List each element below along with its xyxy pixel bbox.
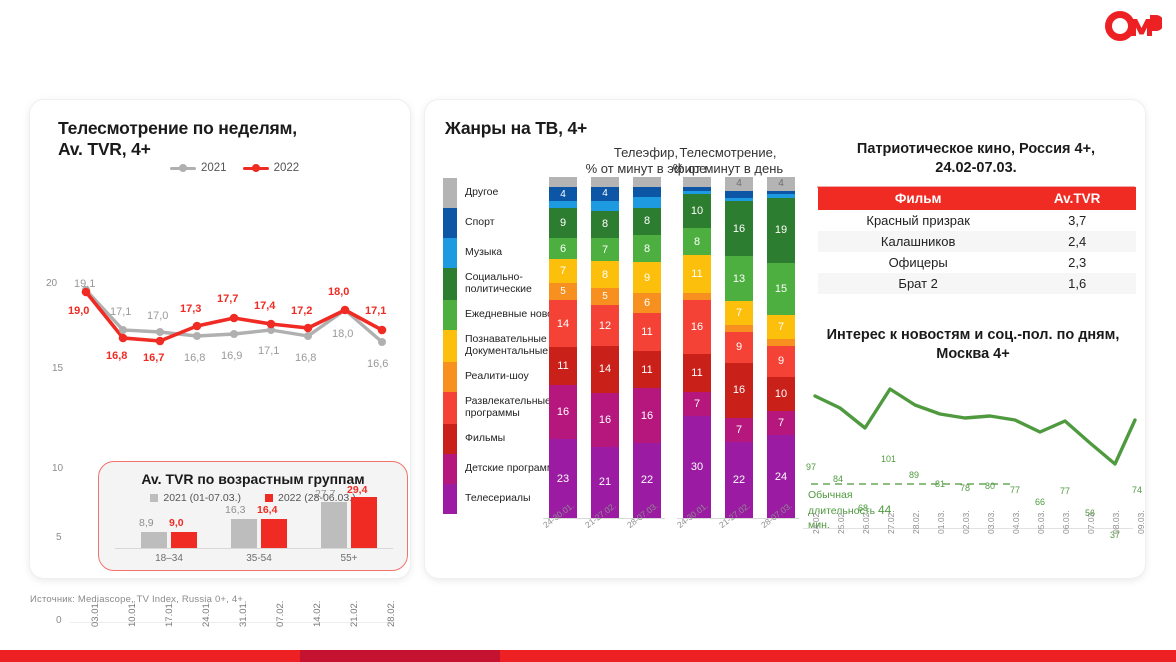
legend-label-2021: 2021 [201,162,227,174]
news-series-line [815,389,1135,464]
point-label-2022-4: 17,7 [217,293,238,305]
genre-label-7: Развлекательные программы [465,392,551,419]
column-head-viewing-line1: Телесмотрение, [653,145,803,161]
genre-label-8: Фильмы [465,424,505,444]
stack-segment: 16 [591,393,619,447]
news-x-tick: 08.03. [1111,510,1121,534]
news-value-8: 77 [1010,485,1020,495]
stack-segment: 13 [725,256,753,301]
stacked-bar-broadcast-0: 4967514111623 [549,177,577,518]
film-table-row: Брат 21,6 [818,273,1136,294]
news-value-13: 74 [1132,485,1142,495]
stack-segment: 16 [725,363,753,418]
stack-segment: 7 [683,392,711,416]
genre-swatch-entertainment-icon [443,392,457,424]
film-cell-name: Брат 2 [818,273,1018,294]
film-table-header-row: Фильм Av.TVR [818,187,1136,210]
point-label-2022-2: 16,7 [143,352,164,364]
stack-segment [725,191,753,198]
stack-segment: 8 [591,211,619,238]
stack-segment: 7 [767,315,795,339]
age-value-2021-35-54: 16,3 [225,504,245,516]
genre-swatch-kids-icon [443,454,457,484]
genre-label-1: Спорт [465,208,495,228]
genre-label-3: Социально- политические [465,268,532,295]
film-panel-title: Патриотическое кино, Россия 4+, 24.02-07… [817,140,1135,178]
news-title-line1: Интерес к новостям и соц.-пол. по дням, [803,326,1143,345]
stacked-bar-broadcast-1: 4878512141621 [591,177,619,518]
point-label-2022-6: 17,2 [291,305,312,317]
left-title-line1: Телесмотрение по неделям, [58,118,388,139]
left-title-line2: Av. TVR, 4+ [58,139,388,160]
legend-label-2022: 2022 [274,162,300,174]
stack-segment: 9 [633,262,661,293]
slide: Телесмотрение по неделям, Av. TVR, 4+ 20… [0,0,1176,662]
news-panel-title: Интерес к новостям и соц.-пол. по дням, … [803,326,1143,364]
age-legend-item-2021: 2021 (01-07.03.) [150,492,241,504]
stack-segment: 4 [725,177,753,191]
stack-segment [591,201,619,211]
stack-segment: 8 [633,208,661,235]
stack-segment: 11 [683,354,711,392]
news-value-6: 78 [960,483,970,493]
stack-segment: 4 [591,187,619,201]
footer-accent-bar [0,650,1176,662]
news-x-tick: 26.02. [861,510,871,534]
film-col-header-name: Фильм [818,187,1018,210]
film-cell-name: Красный призрак [818,210,1018,231]
stack-segment: 5 [549,283,577,300]
age-bar-2021-35-54 [231,519,257,548]
legend-marker-2022 [243,167,269,170]
age-value-2021-18-34: 8,9 [139,517,154,529]
x-tick-6: 14.02. [312,601,323,627]
stack-segment [591,177,619,187]
age-groups-inset: Av. TVR по возрастным группам 2021 (01-0… [98,461,408,571]
point-label-2022-1: 16,8 [106,350,127,362]
news-value-10: 77 [1060,486,1070,496]
point-label-2022-7: 18,0 [328,286,349,298]
genre-swatch-movies-icon [443,424,457,454]
age-bar-2021-55plus [321,502,347,548]
news-x-tick: 05.03. [1036,510,1046,534]
weekly-viewing-card: Телесмотрение по неделям, Av. TVR, 4+ 20… [30,100,410,578]
film-table-row: Калашников2,4 [818,231,1136,252]
point-label-2021-0: 19,1 [74,278,95,290]
news-value-4: 89 [909,470,919,480]
point-label-2021-1: 17,1 [110,306,131,318]
news-x-tick: 07.03. [1086,510,1096,534]
left-chart-legend: 2021 2022 [170,162,299,174]
stacked-bar-broadcast-2: 889611111622 [633,177,661,518]
stack-segment [633,187,661,197]
genre-label-6: Реалити-шоу [465,362,529,382]
stack-segment: 7 [767,411,795,435]
stack-segment: 14 [549,300,577,348]
news-x-tick: 28.02. [911,510,921,534]
genre-label-0: Другое [465,178,498,198]
news-x-tick: 25.02. [836,510,846,534]
stack-segment [549,177,577,187]
legend-marker-2021 [170,167,196,170]
genre-swatch-reality-icon [443,362,457,392]
point-label-2021-6: 16,8 [295,352,316,364]
film-cell-tvr: 2,3 [1018,252,1136,273]
stack-segment: 8 [633,235,661,262]
age-category-35-54: 35-54 [227,553,291,564]
stack-segment [683,177,711,187]
genre-swatch-other-icon [443,178,457,208]
column-head-viewing: Телесмотрение, % от минут в день [653,145,803,178]
stack-segment: 15 [767,263,795,315]
source-note: Источник: Mediascope, TV Index, Russia 0… [30,594,243,605]
y-tick-15: 15 [52,363,63,374]
stack-segment: 16 [683,300,711,355]
genre-swatch-series-icon [443,484,457,514]
stack-segment: 6 [549,238,577,258]
age-value-2021-55plus: 27,7 [315,488,335,500]
news-value-1: 84 [833,474,843,484]
stack-segment: 11 [633,351,661,389]
stack-segment: 11 [549,347,577,385]
news-x-tick: 02.03. [961,510,971,534]
news-x-tick: 01.03. [936,510,946,534]
stack-segment: 9 [767,346,795,377]
film-table-row: Офицеры2,3 [818,252,1136,273]
point-label-2022-8: 17,1 [365,305,386,317]
point-label-2021-7: 18,0 [332,328,353,340]
y-tick-5: 5 [56,532,62,543]
age-bar-2021-18-34 [141,532,167,548]
genre-swatch-daily-news-icon [443,300,457,330]
film-title-line2: 24.02-07.03. [817,159,1135,178]
age-bar-2022-35-54 [261,519,287,548]
stack-segment: 16 [633,388,661,443]
stack-segment: 10 [683,194,711,228]
news-note-line1: Обычная [808,488,938,502]
age-value-2022-35-54: 16,4 [257,504,277,516]
age-bar-2022-55plus [351,497,377,548]
age-category-18-34: 18–34 [137,553,201,564]
age-legend-label-2021: 2021 (01-07.03.) [163,492,241,504]
genre-label-2: Музыка [465,238,502,258]
x-tick-7: 21.02. [349,601,360,627]
stack-segment: 19 [767,198,795,263]
stack-segment: 8 [683,228,711,255]
stack-segment: 7 [725,301,753,325]
stack-segment: 30 [683,416,711,518]
point-label-2021-3: 16,8 [184,352,205,364]
omd-logo-icon [1104,10,1162,44]
film-title-line1: Патриотическое кино, Россия 4+, [817,140,1135,159]
age-legend-swatch-2022 [265,494,273,502]
film-cell-tvr: 2,4 [1018,231,1136,252]
stack-segment: 16 [725,201,753,256]
point-label-2021-2: 17,0 [147,310,168,322]
point-label-2022-0: 19,0 [68,305,89,317]
point-label-2022-5: 17,4 [254,300,275,312]
news-value-7: 80 [985,481,995,491]
stack-segment: 10 [767,377,795,411]
legend-item-2022: 2022 [243,162,300,174]
y-tick-0: 0 [56,615,62,626]
film-table-row: Красный призрак3,7 [818,210,1136,231]
mid-panel-title: Жанры на ТВ, 4+ [445,118,587,139]
stack-segment: 7 [591,238,619,262]
stack-segment: 7 [725,418,753,442]
stack-segment [767,339,795,346]
x-tick-5: 07.02. [275,601,286,627]
film-table-wrapper: Фильм Av.TVR Красный призрак3,7Калашнико… [817,186,1135,188]
age-value-2022-55plus: 29,4 [347,484,367,496]
film-table: Фильм Av.TVR Красный призрак3,7Калашнико… [818,187,1136,294]
age-axis-line [115,548,393,549]
age-legend-swatch-2021 [150,494,158,502]
film-cell-tvr: 3,7 [1018,210,1136,231]
x-axis-line [70,622,395,623]
legend-item-2021: 2021 [170,162,227,174]
news-x-tick: 06.03. [1061,510,1071,534]
stack-segment: 4 [767,177,795,191]
stack-segment: 14 [591,346,619,393]
y-tick-20: 20 [46,278,57,289]
x-tick-8: 28.02. [386,601,397,627]
film-col-header-tvr: Av.TVR [1018,187,1136,210]
stacked-bar-viewing-1: 416137916722 [725,177,753,518]
genre-swatch-sociopolitical-icon [443,268,457,300]
age-category-55plus: 55+ [317,553,381,564]
stack-segment: 9 [725,332,753,363]
stack-segment: 11 [683,255,711,293]
stack-segment: 6 [633,293,661,313]
film-cell-name: Калашников [818,231,1018,252]
stacked-bar-viewing-0: 108111611730 [683,177,711,518]
stacked-bar-viewing-2: 419157910724 [767,177,795,518]
news-x-tick: 24.02. [811,510,821,534]
genre-swatch-music-icon [443,238,457,268]
point-label-2021-8: 16,6 [367,358,388,370]
point-label-2022-3: 17,3 [180,303,201,315]
genre-label-5: Познавательные / Документальные [465,330,553,357]
news-x-tick: 03.03. [986,510,996,534]
left-panel-title: Телесмотрение по неделям, Av. TVR, 4+ [58,118,388,161]
point-label-2021-4: 16,9 [221,350,242,362]
column-head-viewing-line2: % от минут в день [653,161,803,177]
stack-segment: 9 [549,208,577,239]
stack-segment: 12 [591,305,619,346]
news-interest-line-chart [807,372,1137,502]
stack-segment: 7 [549,259,577,283]
news-value-0: 97 [806,462,816,472]
y-tick-10: 10 [52,463,63,474]
stack-segment [633,197,661,207]
news-x-tick: 27.02. [886,510,896,534]
genres-and-highlights-card: Жанры на ТВ, 4+ Телеэфир, % от минут в э… [425,100,1145,578]
stack-segment: 16 [549,385,577,440]
news-x-tick: 09.03. [1136,510,1146,534]
stack-segment: 4 [549,187,577,201]
news-title-line2: Москва 4+ [803,345,1143,364]
age-value-2022-18-34: 9,0 [169,517,184,529]
film-cell-name: Офицеры [818,252,1018,273]
genre-swatch-documentary-icon [443,330,457,362]
genre-label-9: Детские программы [465,454,562,474]
stack-segment [549,201,577,208]
stack-segment: 8 [591,261,619,288]
genre-swatch-sport-icon [443,208,457,238]
news-value-9: 66 [1035,497,1045,507]
genre-label-10: Телесериалы [465,484,531,504]
film-cell-tvr: 1,6 [1018,273,1136,294]
point-label-2021-5: 17,1 [258,345,279,357]
stack-segment: 5 [591,288,619,305]
stack-segment [683,293,711,300]
stack-segment: 11 [633,313,661,351]
news-value-3: 101 [881,454,896,464]
news-x-tick: 04.03. [1011,510,1021,534]
age-bar-2022-18-34 [171,532,197,548]
stack-segment [633,177,661,187]
stack-segment [725,325,753,332]
